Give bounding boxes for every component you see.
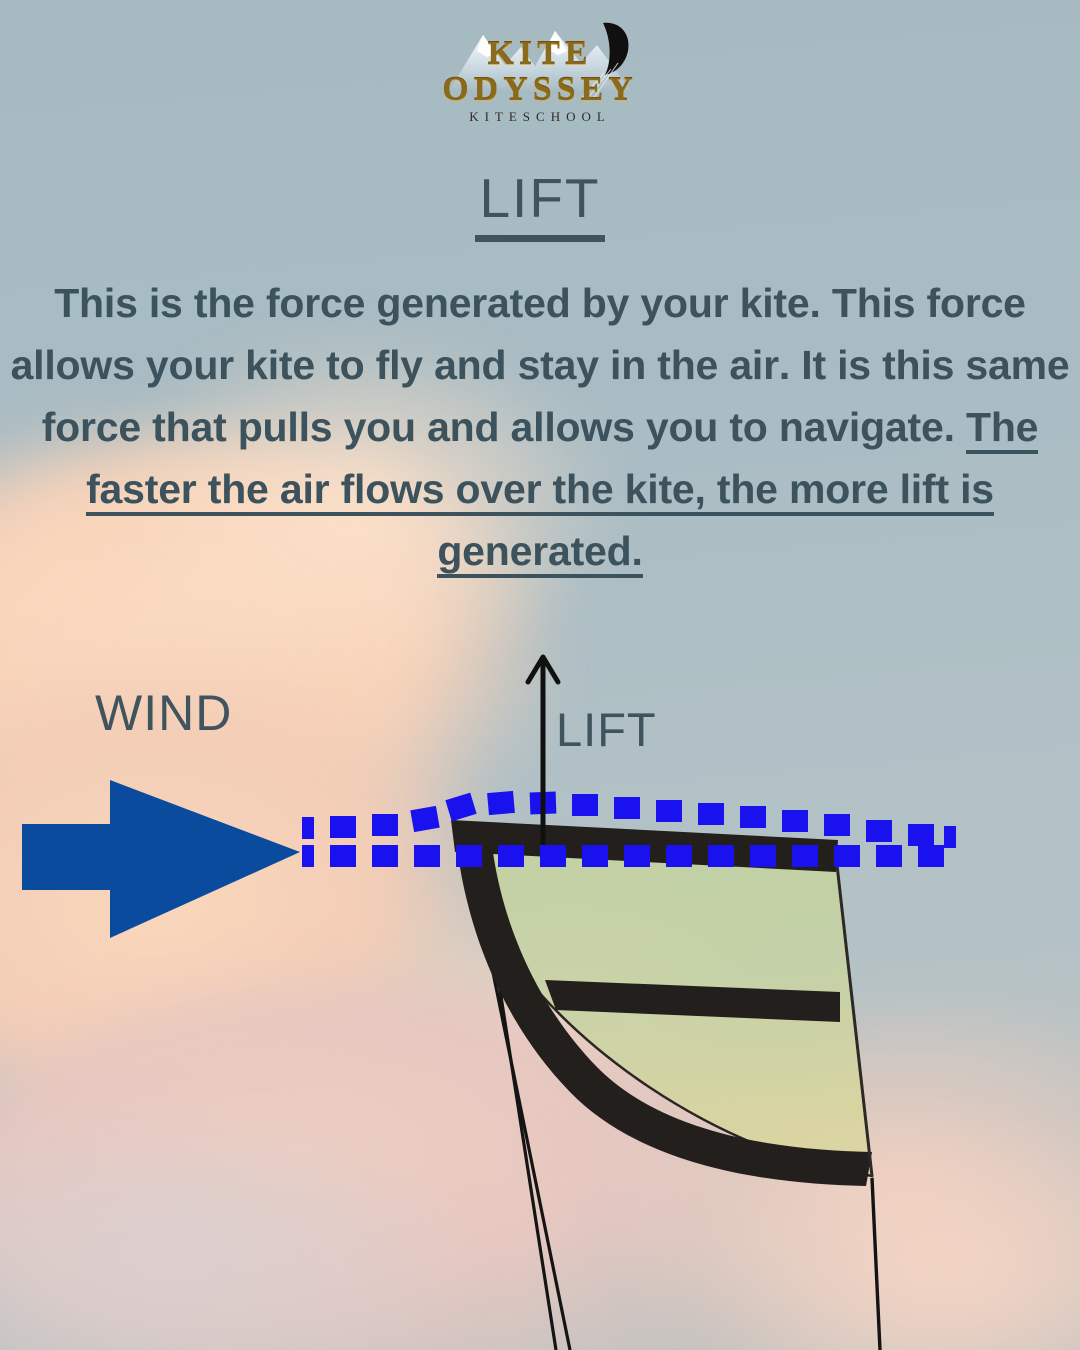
lift-diagram: [0, 0, 1080, 1350]
wind-label: WIND: [95, 684, 232, 742]
lift-arrow-icon: [528, 657, 558, 845]
wind-arrow-icon: [22, 780, 300, 938]
kite-graphic: [451, 820, 872, 1186]
poster-canvas: KITE ODYSSEY KITESCHOOL LIFT This is the…: [0, 0, 1080, 1350]
lift-label: LIFT: [556, 702, 657, 757]
